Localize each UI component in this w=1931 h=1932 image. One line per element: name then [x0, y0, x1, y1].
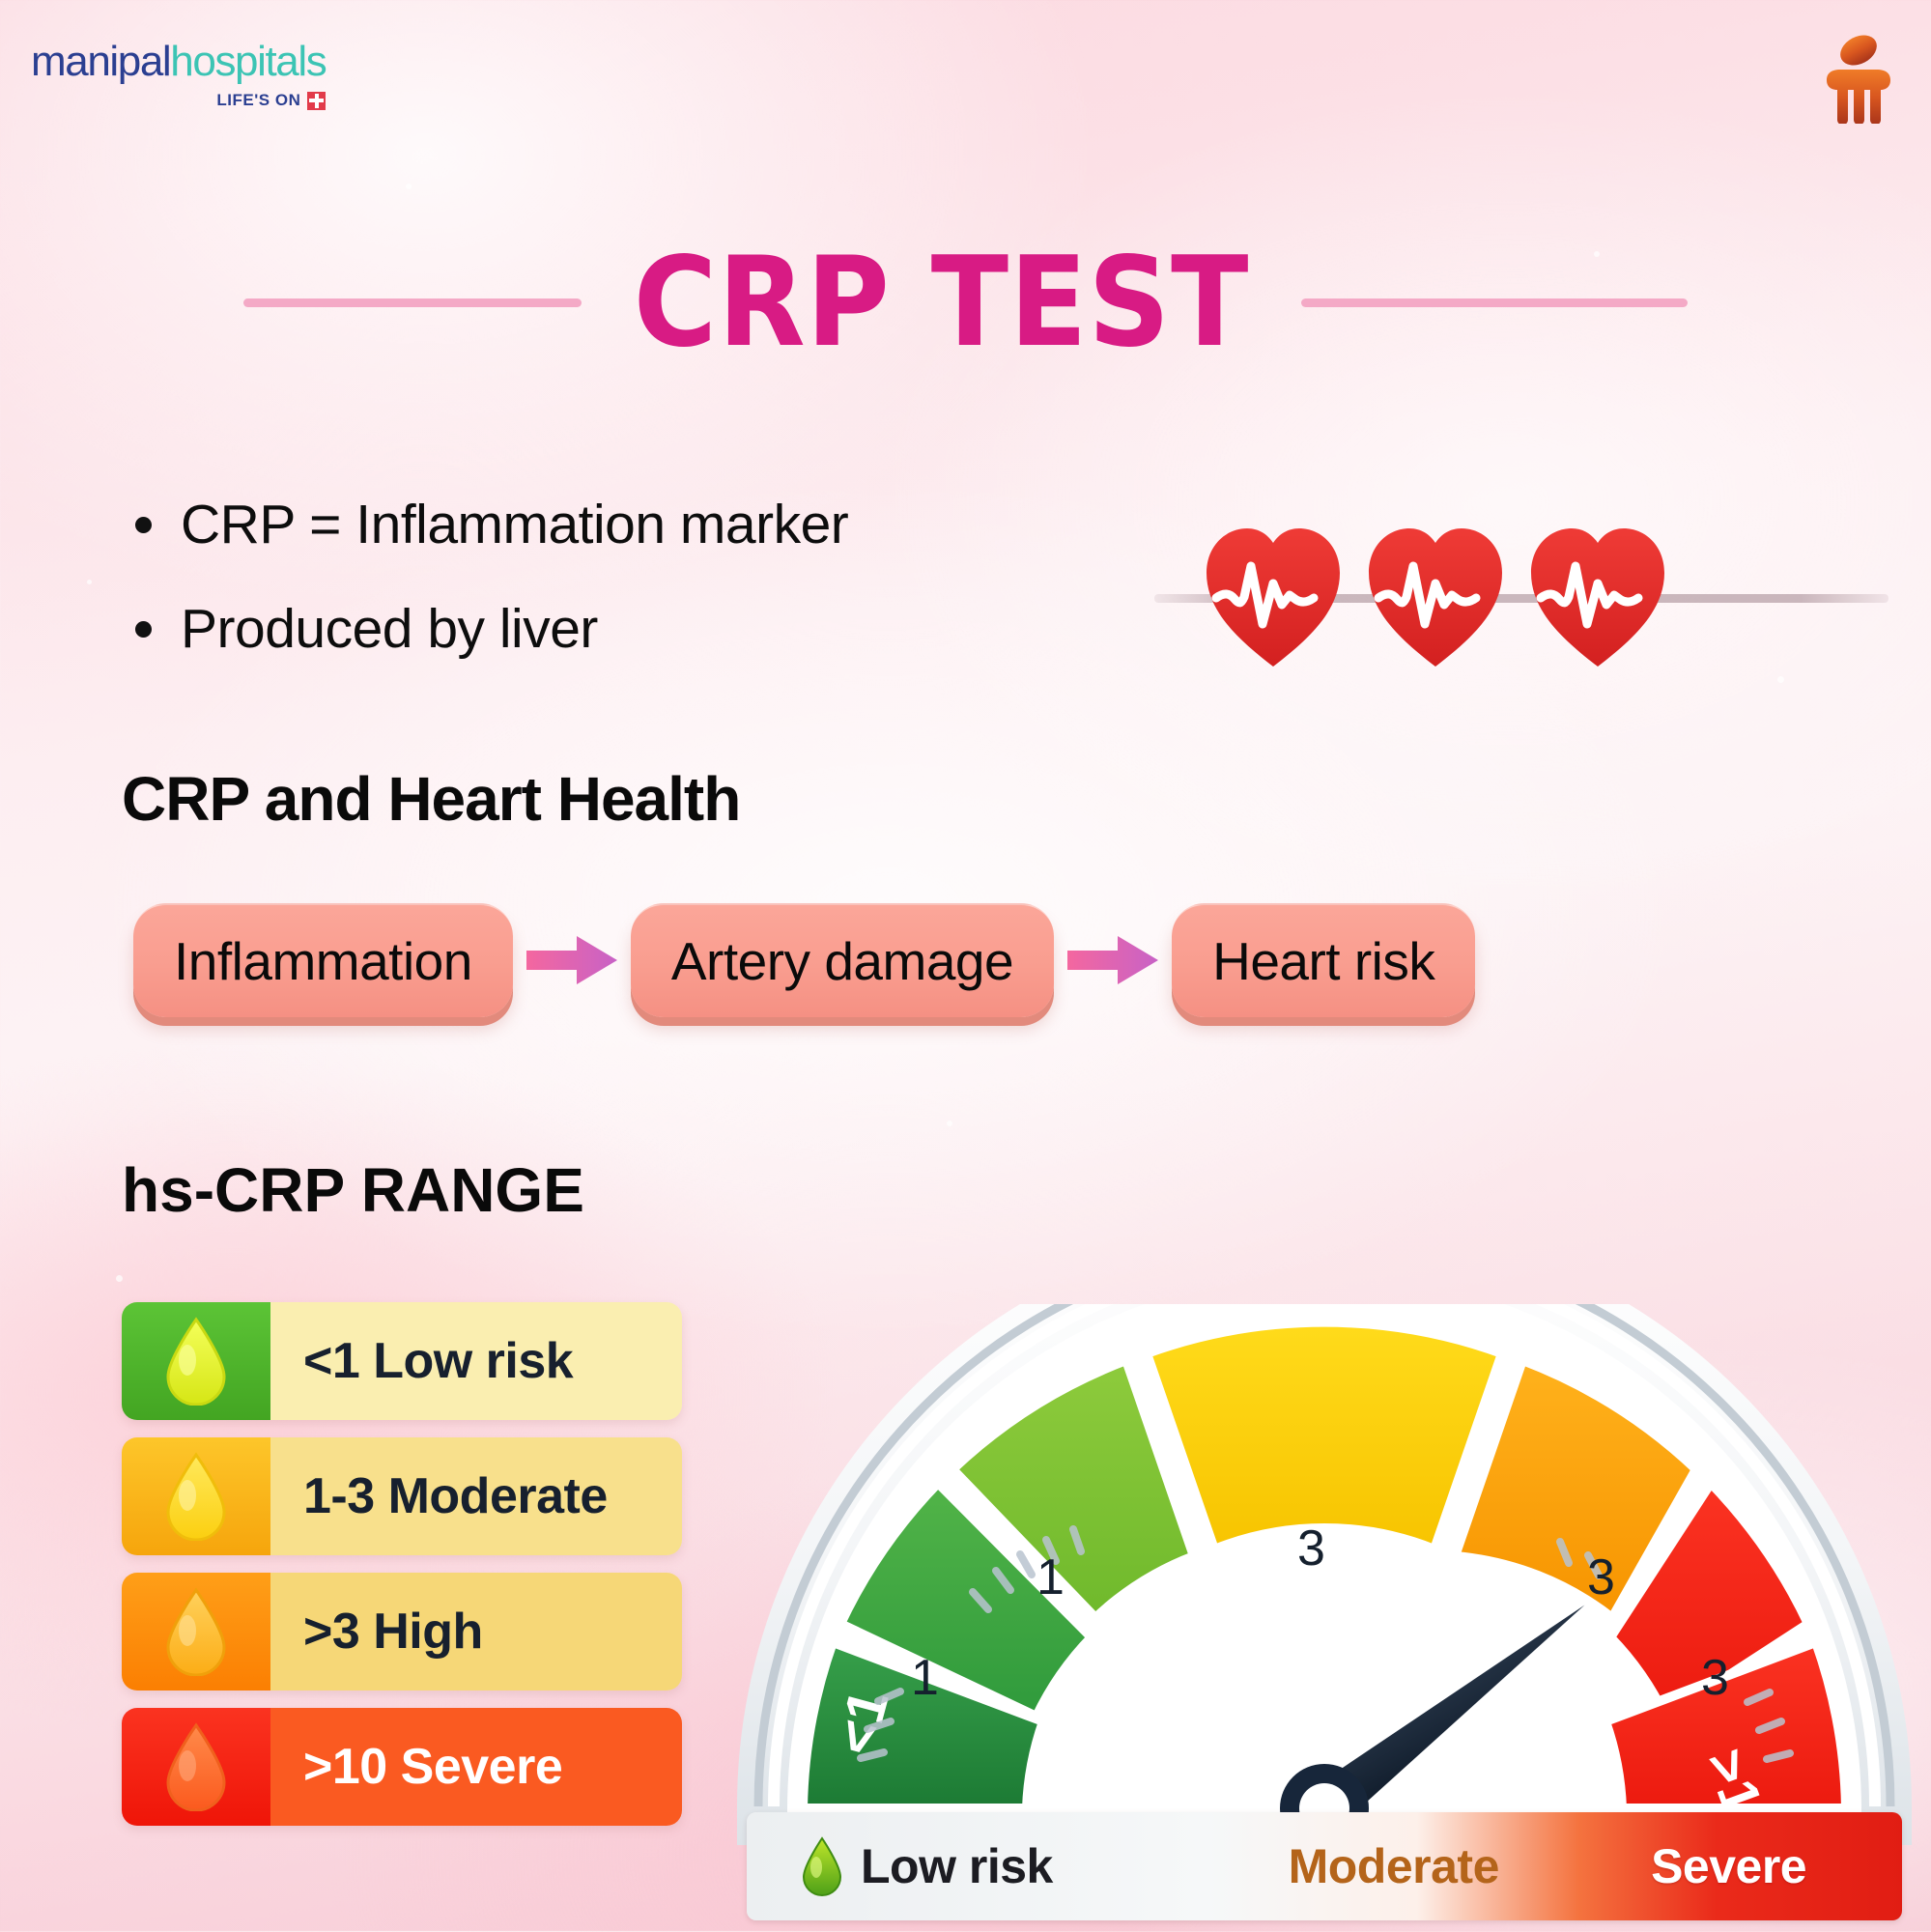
list-item[interactable]: <1 Low risk — [122, 1302, 682, 1420]
flow-diagram: Inflammation Artery damage Heart risk — [133, 903, 1475, 1017]
title-rule-right — [1301, 298, 1688, 307]
bullet-text: CRP = Inflammation marker — [181, 493, 848, 556]
flow-chip-artery-damage[interactable]: Artery damage — [631, 903, 1054, 1017]
drop-icon — [799, 1836, 845, 1896]
heart-ecg-icon — [1525, 517, 1670, 671]
range-swatch — [122, 1708, 270, 1826]
gauge-tick-label: 3 — [1297, 1520, 1325, 1577]
logo-wordmark: manipalhospitals — [31, 41, 326, 83]
gauge-tick-label: 1 — [1036, 1549, 1065, 1605]
range-label: >3 High — [270, 1573, 682, 1690]
list-item[interactable]: 1-3 Moderate — [122, 1437, 682, 1555]
gauge-tick-label: 1 — [911, 1650, 939, 1706]
page-title: CRP TEST — [634, 246, 1250, 360]
logo-tagline: LIFE'S ON — [31, 91, 326, 110]
range-label: <1 Low risk — [270, 1302, 682, 1420]
gauge-footer-severe: Severe — [1555, 1812, 1902, 1920]
heart-group — [1201, 517, 1670, 671]
logo-tagline-text: LIFE'S ON — [216, 91, 300, 110]
drop-icon — [161, 1317, 231, 1406]
intro-bullets: CRP = Inflammation marker Produced by li… — [135, 493, 848, 701]
arrow-right-icon — [1067, 934, 1158, 986]
gauge-footer-bar: Low risk Moderate Severe — [747, 1812, 1902, 1920]
hscrp-gauge: <1 >10 1 1 3 3 3 — [729, 1304, 1919, 1932]
bg-speck — [406, 184, 412, 189]
bullet-text: Produced by liver — [181, 597, 598, 661]
heart-ecg-icon — [1201, 517, 1346, 671]
flow-chip-heart-risk[interactable]: Heart risk — [1172, 903, 1475, 1017]
heart-ecg-icon — [1363, 517, 1508, 671]
bg-speck — [116, 1275, 123, 1282]
drop-icon — [161, 1587, 231, 1676]
range-legend: <1 Low risk 1-3 Moderate >3 High — [122, 1302, 682, 1843]
brand-logo: manipalhospitals LIFE'S ON — [31, 41, 326, 110]
bullet-dot-icon — [135, 517, 152, 533]
section-heading-hscrp-range: hs-CRP RANGE — [122, 1154, 584, 1226]
gauge-footer-low: Low risk — [747, 1812, 1232, 1920]
range-label: >10 Severe — [270, 1708, 682, 1826]
medical-cross-icon — [307, 92, 326, 110]
range-label: 1-3 Moderate — [270, 1437, 682, 1555]
list-item: Produced by liver — [135, 597, 848, 661]
gauge-footer-severe-label: Severe — [1651, 1838, 1806, 1894]
gauge-tick-label: 3 — [1587, 1549, 1615, 1605]
title-row: CRP TEST — [0, 246, 1931, 360]
drop-icon — [161, 1722, 231, 1811]
range-swatch — [122, 1302, 270, 1420]
flow-chip-inflammation[interactable]: Inflammation — [133, 903, 513, 1017]
list-item[interactable]: >10 Severe — [122, 1708, 682, 1826]
list-item[interactable]: >3 High — [122, 1573, 682, 1690]
bullet-dot-icon — [135, 621, 152, 638]
section-heading-heart-health: CRP and Heart Health — [122, 763, 740, 835]
logo-word-manipal: manipal — [31, 38, 170, 85]
gauge-footer-moderate: Moderate — [1232, 1812, 1555, 1920]
range-swatch — [122, 1437, 270, 1555]
drop-icon — [161, 1452, 231, 1541]
manipal-brandmark-icon — [1817, 29, 1900, 124]
arrow-right-icon — [526, 934, 617, 986]
gauge-footer-low-label: Low risk — [861, 1838, 1053, 1894]
gauge-tick-label: 3 — [1701, 1650, 1729, 1706]
logo-word-hospitals: hospitals — [170, 38, 326, 85]
heartbeat-illustration — [1154, 517, 1888, 681]
title-rule-left — [243, 298, 582, 307]
list-item: CRP = Inflammation marker — [135, 493, 848, 556]
range-swatch — [122, 1573, 270, 1690]
gauge-footer-moderate-label: Moderate — [1289, 1838, 1499, 1894]
bg-speck — [87, 580, 92, 584]
bg-speck — [947, 1121, 952, 1126]
